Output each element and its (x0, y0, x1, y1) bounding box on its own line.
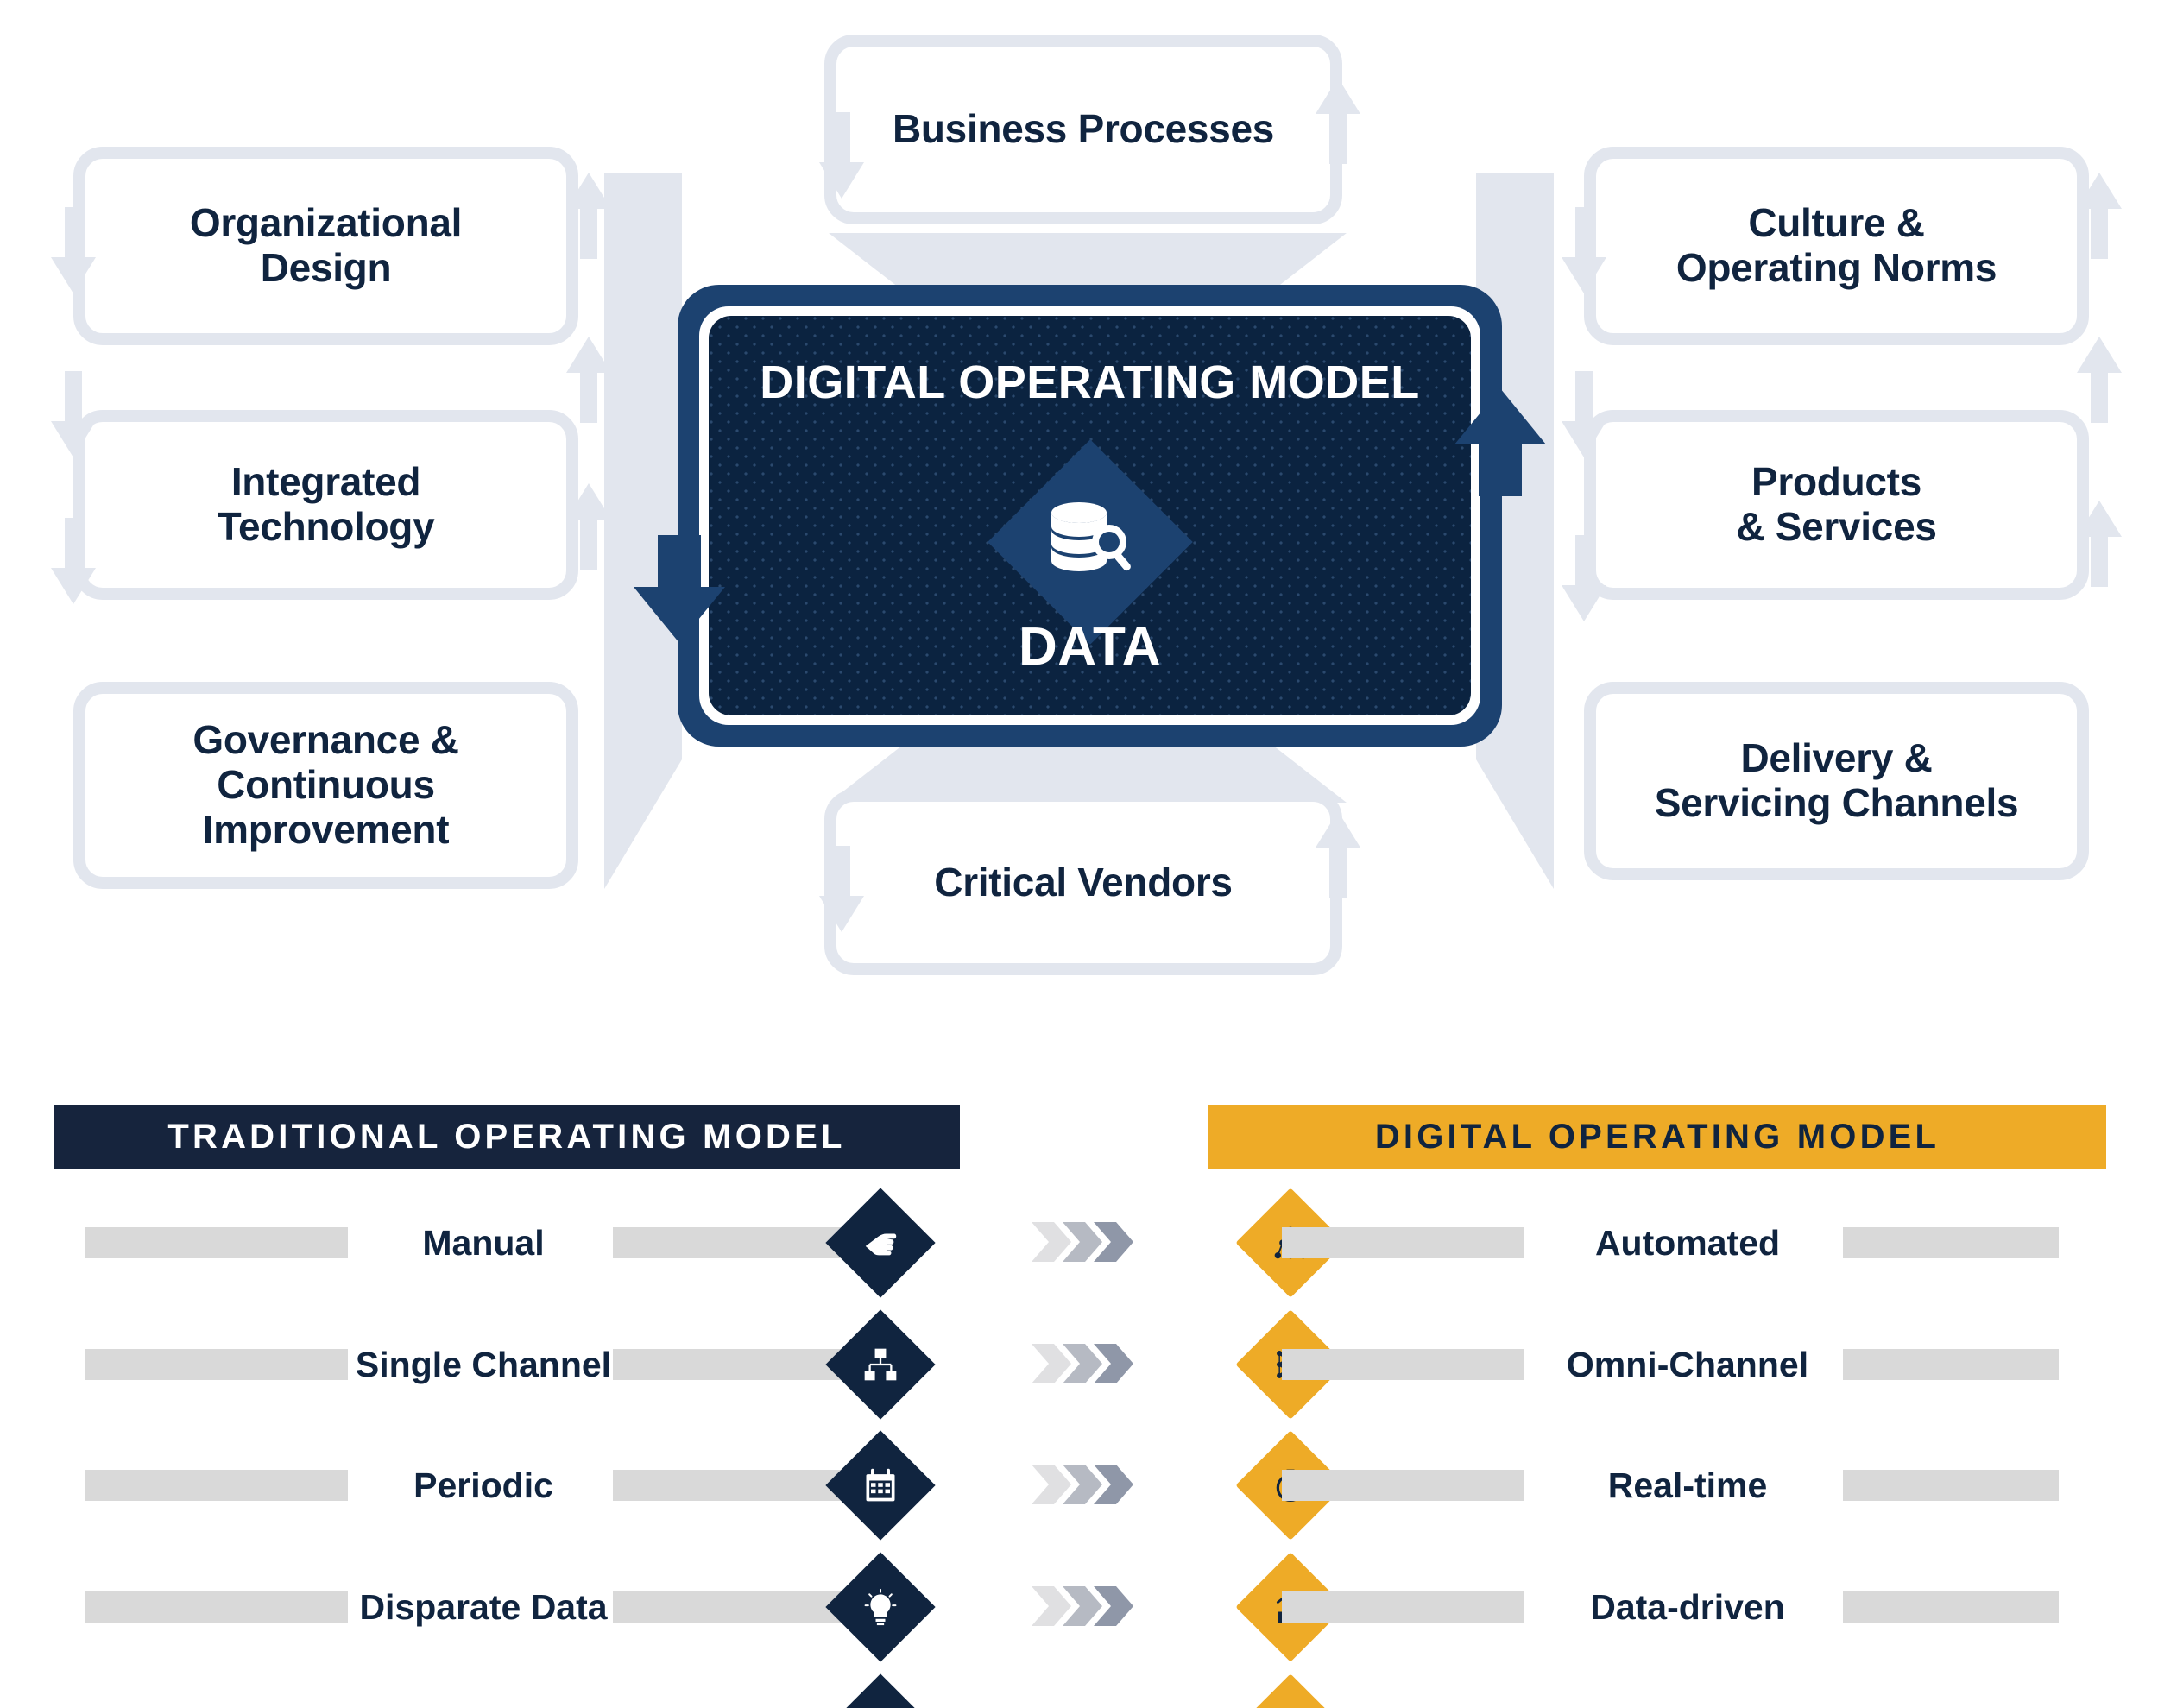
box-delivery-servicing-channels-label: Delivery & Servicing Channels (1655, 736, 2019, 826)
digital-item-label: Omni-Channel (1528, 1340, 1847, 1389)
traditional-item-icon-diamond[interactable] (825, 1673, 935, 1708)
comparison-row: Single Channel (0, 1309, 2158, 1408)
box-business-processes-label: Business Processes (893, 107, 1274, 152)
box-products-services-label: Products & Services (1736, 460, 1936, 550)
digital-item-label: Data-driven (1528, 1583, 1847, 1631)
box-critical-vendors[interactable]: Critical Vendors (824, 790, 1342, 975)
box-organizational-design[interactable]: Organizational Design (73, 147, 578, 345)
digital-item-label: Cloud-based (1528, 1705, 1847, 1708)
box-integrated-technology-label: Integrated Technology (218, 460, 435, 550)
triple-chevron-right-icon (1032, 1586, 1135, 1626)
center-inner-panel: DIGITAL OPERATING MODEL DATA (709, 316, 1471, 715)
traditional-item-label: Single Channel (345, 1340, 622, 1389)
box-governance-continuous-improvement-label: Governance & Continuous Improvement (192, 718, 458, 853)
database-search-icon (1043, 497, 1138, 583)
digital-panel-header: DIGITAL OPERATING MODEL (1208, 1105, 2106, 1169)
bar-segment (1843, 1591, 2059, 1623)
org-chart-icon (861, 1346, 899, 1383)
infographic-root: Organizational Design Integrated Technol… (0, 0, 2158, 1708)
traditional-item-label: Manual (345, 1219, 622, 1267)
comparison-row: Disparate Data (0, 1552, 2158, 1650)
traditional-item-icon-diamond[interactable] (825, 1309, 935, 1419)
bar-segment (85, 1227, 348, 1258)
center-subtitle: DATA (709, 616, 1471, 678)
center-title: DIGITAL OPERATING MODEL (709, 356, 1471, 409)
box-business-processes[interactable]: Business Processes (824, 35, 1342, 224)
bar-segment (85, 1349, 348, 1380)
traditional-item-label: On-Premise (345, 1705, 622, 1708)
box-integrated-technology[interactable]: Integrated Technology (73, 410, 578, 600)
box-delivery-servicing-channels[interactable]: Delivery & Servicing Channels (1584, 682, 2089, 880)
box-critical-vendors-label: Critical Vendors (934, 860, 1232, 905)
comparison-row: On-Premise (0, 1673, 2158, 1708)
lightbulb-icon (861, 1588, 899, 1626)
traditional-item-label: Disparate Data (345, 1583, 622, 1631)
traditional-item-icon-diamond[interactable] (825, 1188, 935, 1297)
operating-model-comparison: TRADITIONAL OPERATING MODEL DIGITAL OPER… (0, 1062, 2158, 1708)
bar-segment (1282, 1349, 1524, 1380)
triple-chevron-right-icon (1032, 1222, 1135, 1262)
digital-item-label: Automated (1528, 1219, 1847, 1267)
center-white-ring: DIGITAL OPERATING MODEL DATA (699, 306, 1480, 725)
digital-panel-header-label: DIGITAL OPERATING MODEL (1375, 1118, 1940, 1157)
triple-chevron-right-icon (1032, 1344, 1135, 1383)
digital-item-icon-diamond[interactable] (1235, 1673, 1345, 1708)
box-culture-operating-norms[interactable]: Culture & Operating Norms (1584, 147, 2089, 345)
bar-segment (1282, 1227, 1524, 1258)
box-organizational-design-label: Organizational Design (190, 201, 462, 291)
bar-segment (1843, 1349, 2059, 1380)
bar-segment (1843, 1227, 2059, 1258)
box-culture-operating-norms-label: Culture & Operating Norms (1676, 201, 1997, 291)
bar-segment (1282, 1591, 1524, 1623)
box-governance-continuous-improvement[interactable]: Governance & Continuous Improvement (73, 682, 578, 889)
traditional-item-icon-diamond[interactable] (825, 1552, 935, 1661)
operating-model-diagram: Organizational Design Integrated Technol… (0, 0, 2158, 1062)
traditional-panel-header-label: TRADITIONAL OPERATING MODEL (167, 1118, 845, 1157)
center-digital-operating-model[interactable]: DIGITAL OPERATING MODEL DATA (678, 285, 1502, 747)
pointing-hand-icon (861, 1223, 900, 1263)
traditional-panel-header: TRADITIONAL OPERATING MODEL (54, 1105, 960, 1169)
comparison-row: Manual (0, 1188, 2158, 1286)
box-products-services[interactable]: Products & Services (1584, 410, 2089, 600)
bar-segment (85, 1591, 348, 1623)
